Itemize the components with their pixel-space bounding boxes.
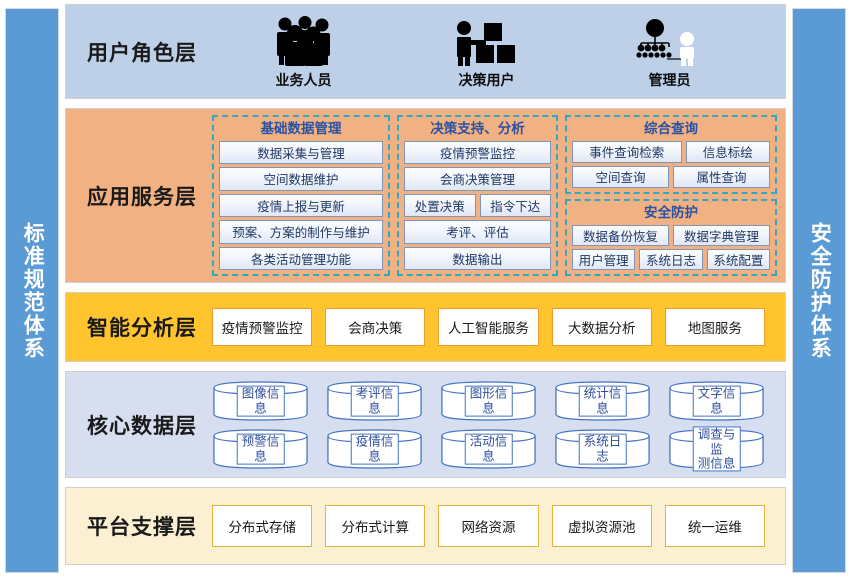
layer-user-roles: 用户角色层: [65, 4, 786, 99]
group-row: 事件查询检索 信息标绘: [572, 141, 770, 163]
database-label: 系统日志: [578, 434, 627, 465]
app-chip-command-issuance[interactable]: 指令下达: [480, 194, 552, 217]
database-label: 统计信息: [578, 386, 627, 417]
group-basic-data-management: 基础数据管理 数据采集与管理 空间数据维护 疫情上报与更新 预案、方案的制作与维…: [212, 115, 390, 276]
role-label: 管理员: [649, 70, 691, 90]
group-row: 数据采集与管理: [219, 141, 383, 164]
group-column-query-security: 综合查询 事件查询检索 信息标绘 空间查询 属性查询: [565, 115, 777, 276]
core-data-row: 图像信息 考评信息 图形信息 统计信息: [212, 380, 765, 422]
app-chip-system-config[interactable]: 系统配置: [707, 249, 770, 270]
ai-item-map-service[interactable]: 地图服务: [665, 308, 765, 346]
user-roles-list: 业务人员: [212, 14, 785, 90]
database-label: 预警信息: [236, 434, 285, 465]
database-epidemic-info[interactable]: 疫情信息: [326, 428, 423, 470]
group-row: 用户管理 系统日志 系统配置: [572, 249, 770, 270]
ai-item-consultation-decision[interactable]: 会商决策: [325, 308, 425, 346]
database-statistics-info[interactable]: 统计信息: [554, 380, 651, 422]
application-groups: 基础数据管理 数据采集与管理 空间数据维护 疫情上报与更新 预案、方案的制作与维…: [212, 109, 785, 282]
ai-item-big-data-analysis[interactable]: 大数据分析: [552, 308, 652, 346]
database-label: 活动信息: [464, 434, 513, 465]
database-label: 图形信息: [464, 386, 513, 417]
app-chip-spatial-data-maintenance[interactable]: 空间数据维护: [219, 167, 383, 190]
left-sidebar-standards: 标准规范体系: [5, 8, 59, 573]
core-data-cylinders: 图像信息 考评信息 图形信息 统计信息: [212, 380, 785, 470]
database-graphic-info[interactable]: 图形信息: [440, 380, 537, 422]
role-label: 业务人员: [276, 70, 332, 90]
database-label: 疫情信息: [350, 434, 399, 465]
group-row: 会商决策管理: [404, 167, 551, 190]
layer-intelligent-analysis-title: 智能分析层: [66, 312, 212, 342]
database-activity-info[interactable]: 活动信息: [440, 428, 537, 470]
group-comprehensive-query: 综合查询 事件查询检索 信息标绘 空间查询 属性查询: [565, 115, 777, 194]
architecture-diagram: 标准规范体系 用户角色层: [0, 0, 851, 583]
intelligent-analysis-items: 疫情预警监控 会商决策 人工智能服务 大数据分析 地图服务: [212, 308, 785, 346]
group-row: 数据输出: [404, 247, 551, 270]
database-appraisal-info[interactable]: 考评信息: [326, 380, 423, 422]
group-row: 预案、方案的制作与维护: [219, 220, 383, 243]
database-text-info[interactable]: 文字信息: [668, 380, 765, 422]
layer-core-data: 核心数据层 图像信息 考评信息 图形信息: [65, 371, 786, 478]
group-security-protection: 安全防护 数据备份恢复 数据字典管理 用户管理 系统日志 系统配置: [565, 199, 777, 276]
group-row: 疫情预警监控: [404, 141, 551, 164]
group-title: 综合查询: [572, 118, 770, 141]
group-rows: 数据采集与管理 空间数据维护 疫情上报与更新 预案、方案的制作与维护 各类活动管: [219, 141, 383, 270]
core-data-row: 预警信息 疫情信息 活动信息 系统日志: [212, 428, 765, 470]
platform-item-distributed-computing[interactable]: 分布式计算: [325, 505, 425, 547]
app-chip-information-plotting[interactable]: 信息标绘: [686, 141, 771, 163]
layer-platform-support: 平台支撑层 分布式存储 分布式计算 网络资源 虚拟资源池 统一运维: [65, 487, 786, 565]
app-chip-plan-creation[interactable]: 预案、方案的制作与维护: [219, 220, 383, 243]
database-label: 调查与监 测信息: [692, 427, 741, 472]
app-chip-data-backup-recovery[interactable]: 数据备份恢复: [572, 225, 669, 246]
database-survey-monitoring-info[interactable]: 调查与监 测信息: [668, 428, 765, 470]
group-row: 处置决策 指令下达: [404, 194, 551, 217]
group-title: 基础数据管理: [219, 118, 383, 141]
app-chip-attribute-query[interactable]: 属性查询: [673, 166, 770, 188]
app-chip-activity-management[interactable]: 各类活动管理功能: [219, 247, 383, 270]
layer-application-services: 应用服务层 基础数据管理 数据采集与管理 空间数据维护 疫情上报与更新: [65, 108, 786, 283]
ai-item-artificial-intelligence-service[interactable]: 人工智能服务: [438, 308, 538, 346]
app-chip-consultation-decision-management[interactable]: 会商决策管理: [404, 167, 551, 190]
platform-support-items: 分布式存储 分布式计算 网络资源 虚拟资源池 统一运维: [212, 505, 785, 547]
platform-item-network-resources[interactable]: 网络资源: [438, 505, 538, 547]
app-chip-data-collection[interactable]: 数据采集与管理: [219, 141, 383, 164]
left-sidebar-label: 标准规范体系: [19, 222, 45, 360]
database-warning-info[interactable]: 预警信息: [212, 428, 309, 470]
app-chip-data-output[interactable]: 数据输出: [404, 247, 551, 270]
role-administrator[interactable]: 管理员: [595, 14, 745, 90]
database-label: 文字信息: [692, 386, 741, 417]
layer-intelligent-analysis: 智能分析层 疫情预警监控 会商决策 人工智能服务 大数据分析 地图服务: [65, 292, 786, 362]
database-label: 考评信息: [350, 386, 399, 417]
layer-platform-support-title: 平台支撑层: [66, 511, 212, 541]
group-row: 数据备份恢复 数据字典管理: [572, 225, 770, 246]
group-rows: 事件查询检索 信息标绘 空间查询 属性查询: [572, 141, 770, 188]
database-system-log[interactable]: 系统日志: [554, 428, 651, 470]
group-row: 各类活动管理功能: [219, 247, 383, 270]
group-of-people-icon: [267, 14, 341, 66]
database-image-info[interactable]: 图像信息: [212, 380, 309, 422]
group-decision-support-analysis: 决策支持、分析 疫情预警监控 会商决策管理 处置决策 指令下达: [397, 115, 558, 276]
group-row: 考评、评估: [404, 220, 551, 243]
app-chip-user-management[interactable]: 用户管理: [572, 249, 635, 270]
layer-core-data-title: 核心数据层: [66, 410, 212, 440]
app-chip-epidemic-reporting[interactable]: 疫情上报与更新: [219, 194, 383, 217]
database-label: 图像信息: [236, 386, 285, 417]
group-row: 疫情上报与更新: [219, 194, 383, 217]
app-chip-disposal-decision[interactable]: 处置决策: [404, 194, 476, 217]
app-chip-data-dictionary-management[interactable]: 数据字典管理: [673, 225, 770, 246]
right-sidebar-label: 安全防护体系: [806, 222, 832, 360]
ai-item-epidemic-warning-monitoring[interactable]: 疫情预警监控: [212, 308, 312, 346]
layers-stack: 用户角色层: [65, 4, 786, 579]
app-chip-event-query-search[interactable]: 事件查询检索: [572, 141, 682, 163]
app-chip-spatial-query[interactable]: 空间查询: [572, 166, 669, 188]
right-sidebar-security: 安全防护体系: [792, 8, 846, 573]
layer-application-services-title: 应用服务层: [66, 109, 212, 282]
org-chart-person-icon: [633, 14, 707, 66]
group-row: 空间数据维护: [219, 167, 383, 190]
app-chip-system-log[interactable]: 系统日志: [639, 249, 702, 270]
person-with-blocks-icon: [454, 14, 520, 66]
platform-item-virtual-resource-pool[interactable]: 虚拟资源池: [552, 505, 652, 547]
role-decision-user[interactable]: 决策用户: [412, 14, 562, 90]
group-title: 决策支持、分析: [404, 118, 551, 141]
layer-user-roles-title: 用户角色层: [66, 37, 212, 67]
role-business-staff[interactable]: 业务人员: [229, 14, 379, 90]
group-title: 安全防护: [572, 202, 770, 225]
group-row: 空间查询 属性查询: [572, 166, 770, 188]
platform-item-unified-operations[interactable]: 统一运维: [665, 505, 765, 547]
role-label: 决策用户: [459, 70, 515, 90]
app-chip-epidemic-warning-monitoring[interactable]: 疫情预警监控: [404, 141, 551, 164]
group-rows: 疫情预警监控 会商决策管理 处置决策 指令下达 考评、评估: [404, 141, 551, 270]
platform-item-distributed-storage[interactable]: 分布式存储: [212, 505, 312, 547]
group-rows: 数据备份恢复 数据字典管理 用户管理 系统日志 系统配置: [572, 225, 770, 270]
app-chip-appraisal-evaluation[interactable]: 考评、评估: [404, 220, 551, 243]
